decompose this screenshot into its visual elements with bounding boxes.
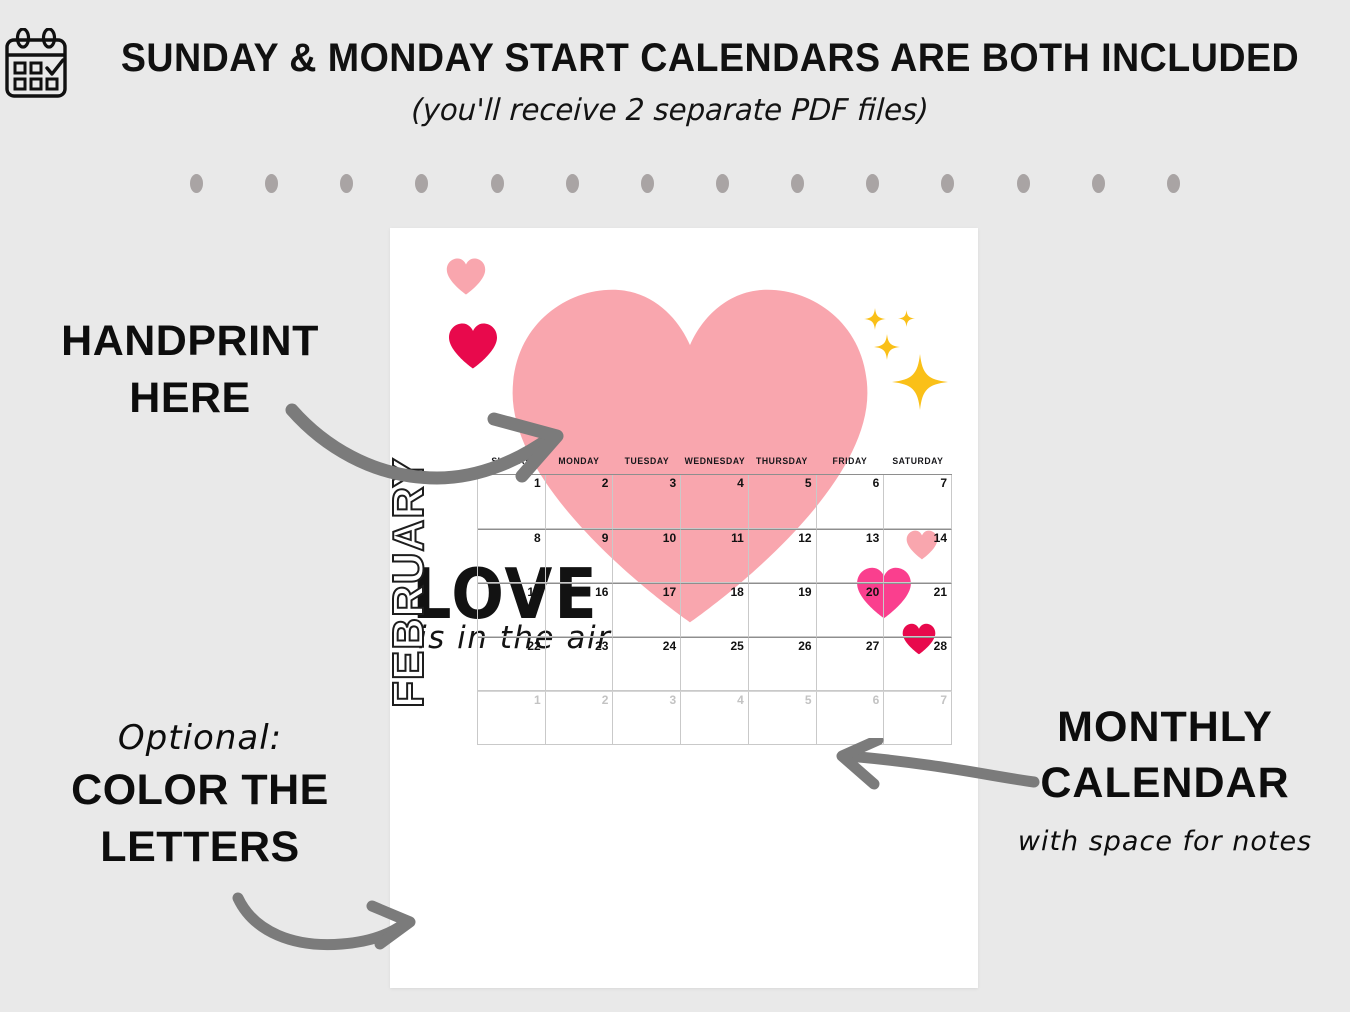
calendar-day-cell[interactable]: 3 xyxy=(613,475,681,529)
divider-dot xyxy=(941,174,954,193)
day-number: 18 xyxy=(730,585,743,599)
day-number: 17 xyxy=(663,585,676,599)
calendar-day-cell[interactable]: 18 xyxy=(681,583,749,637)
calendar-day-cell[interactable]: 25 xyxy=(681,637,749,691)
annotation-color-line1: COLOR THE xyxy=(30,762,370,819)
annotation-monthly-calendar: MONTHLY CALENDAR with space for notes xyxy=(1000,700,1330,857)
day-number: 23 xyxy=(595,639,608,653)
calendar-day-cell[interactable]: 28 xyxy=(884,637,952,691)
day-number: 7 xyxy=(940,693,947,707)
day-number: 5 xyxy=(805,693,812,707)
header-title: SUNDAY & MONDAY START CALENDARS ARE BOTH… xyxy=(118,36,1302,81)
calendar-grid: SUNDAY MONDAY TUESDAY WEDNESDAY THURSDAY… xyxy=(477,456,952,745)
calendar-day-cell[interactable]: 15 xyxy=(478,583,546,637)
calendar-day-cell[interactable]: 1 xyxy=(478,691,546,745)
calendar-check-icon xyxy=(5,28,67,100)
calendar-day-cell[interactable]: 4 xyxy=(681,691,749,745)
light-pink-heart-icon xyxy=(446,258,486,295)
calendar-day-cell[interactable]: 4 xyxy=(681,475,749,529)
day-number: 6 xyxy=(873,476,880,490)
divider-dot xyxy=(340,174,353,193)
day-number: 12 xyxy=(798,531,811,545)
day-number: 13 xyxy=(866,531,879,545)
calendar-preview-card: LOVE is in the air FEBRUARY SUNDAY MONDA… xyxy=(390,228,978,988)
calendar-day-cell[interactable]: 6 xyxy=(817,475,885,529)
day-number: 6 xyxy=(873,693,880,707)
annotation-optional-label: Optional: xyxy=(30,718,370,758)
annotation-color-line2: LETTERS xyxy=(30,819,370,876)
calendar-day-cell[interactable]: 26 xyxy=(749,637,817,691)
calendar-day-cell[interactable]: 7 xyxy=(884,475,952,529)
calendar-day-cell[interactable]: 22 xyxy=(478,637,546,691)
day-number: 2 xyxy=(602,693,609,707)
sparkle-icon xyxy=(864,308,886,330)
day-number: 4 xyxy=(737,693,744,707)
day-number: 9 xyxy=(602,531,609,545)
day-number: 5 xyxy=(805,476,812,490)
day-number: 14 xyxy=(934,531,947,545)
day-number: 21 xyxy=(934,585,947,599)
calendar-day-cell[interactable]: 17 xyxy=(613,583,681,637)
calendar-day-cell[interactable]: 7 xyxy=(884,691,952,745)
calendar-day-cell[interactable]: 10 xyxy=(613,529,681,583)
day-number: 20 xyxy=(866,585,879,599)
day-number: 4 xyxy=(737,476,744,490)
calendar-day-cell[interactable]: 6 xyxy=(817,691,885,745)
divider-dot xyxy=(791,174,804,193)
day-number: 19 xyxy=(798,585,811,599)
day-number: 28 xyxy=(934,639,947,653)
calendar-week-row: 8 9 10 11 12 13 14 xyxy=(478,529,952,583)
divider-dot xyxy=(566,174,579,193)
weekday-thursday: THURSDAY xyxy=(750,456,815,474)
calendar-week-row-next-month: 1 2 3 4 5 6 7 xyxy=(478,691,952,745)
divider-dot xyxy=(265,174,278,193)
calendar-day-cell[interactable]: 23 xyxy=(546,637,614,691)
day-number: 3 xyxy=(669,476,676,490)
calendar-day-cell[interactable]: 19 xyxy=(749,583,817,637)
calendar-day-cell[interactable]: 27 xyxy=(817,637,885,691)
header-band: SUNDAY & MONDAY START CALENDARS ARE BOTH… xyxy=(0,0,1350,150)
divider-dot xyxy=(1167,174,1180,193)
calendar-day-cell[interactable]: 20 xyxy=(817,583,885,637)
calendar-day-cell[interactable]: 5 xyxy=(749,691,817,745)
calendar-day-cell[interactable]: 13 xyxy=(817,529,885,583)
day-number: 16 xyxy=(595,585,608,599)
annotation-color-letters: Optional: COLOR THE LETTERS xyxy=(30,718,370,876)
sparkle-icon xyxy=(892,354,948,410)
calendar-day-cell[interactable]: 24 xyxy=(613,637,681,691)
calendar-day-cell[interactable]: 9 xyxy=(546,529,614,583)
calendar-day-cell[interactable]: 14 xyxy=(884,529,952,583)
divider-dot xyxy=(641,174,654,193)
weekday-tuesday: TUESDAY xyxy=(614,456,679,474)
annotation-monthly-line2: CALENDAR xyxy=(1000,756,1330,812)
calendar-day-cell[interactable]: 8 xyxy=(478,529,546,583)
color-letters-arrow-icon xyxy=(232,890,422,960)
day-number: 3 xyxy=(669,693,676,707)
weekday-friday: FRIDAY xyxy=(818,456,883,474)
calendar-day-cell[interactable]: 3 xyxy=(613,691,681,745)
divider-dot xyxy=(415,174,428,193)
divider-dot xyxy=(866,174,879,193)
day-number: 10 xyxy=(663,531,676,545)
crimson-heart-icon xyxy=(448,323,498,369)
divider-dot xyxy=(1092,174,1105,193)
day-number: 2 xyxy=(602,476,609,490)
annotation-monthly-sub: with space for notes xyxy=(1000,826,1330,857)
day-number: 26 xyxy=(798,639,811,653)
weekday-saturday: SATURDAY xyxy=(885,456,950,474)
annotation-handprint-line1: HANDPRINT xyxy=(61,317,319,365)
day-number: 22 xyxy=(527,639,540,653)
calendar-grid-body: 1 2 3 4 5 6 7 8 9 10 11 12 13 14 15 16 1… xyxy=(477,474,952,745)
calendar-day-cell[interactable]: 16 xyxy=(546,583,614,637)
calendar-week-row: 15 16 17 18 19 20 21 xyxy=(478,583,952,637)
divider-dot xyxy=(491,174,504,193)
header-subtitle: (you'll receive 2 separate PDF files) xyxy=(97,93,1243,128)
day-number: 25 xyxy=(730,639,743,653)
calendar-day-cell[interactable]: 21 xyxy=(884,583,952,637)
calendar-day-cell[interactable]: 5 xyxy=(749,475,817,529)
calendar-day-cell[interactable]: 2 xyxy=(546,691,614,745)
annotation-monthly-line1: MONTHLY xyxy=(1000,700,1330,756)
day-number: 7 xyxy=(940,476,947,490)
monthly-calendar-arrow-icon xyxy=(830,738,1040,800)
divider-dot xyxy=(716,174,729,193)
day-number: 15 xyxy=(527,585,540,599)
sparkle-icon xyxy=(898,310,915,327)
divider-dot xyxy=(1017,174,1030,193)
weekday-wednesday: WEDNESDAY xyxy=(682,456,747,474)
day-number: 27 xyxy=(866,639,879,653)
day-number: 8 xyxy=(534,531,541,545)
dot-divider xyxy=(190,172,1180,194)
calendar-day-cell[interactable]: 11 xyxy=(681,529,749,583)
day-number: 11 xyxy=(731,531,744,545)
calendar-week-row: 22 23 24 25 26 27 28 xyxy=(478,637,952,691)
calendar-day-cell[interactable]: 12 xyxy=(749,529,817,583)
annotation-handprint-line2: HERE xyxy=(129,374,250,422)
day-number: 1 xyxy=(534,693,541,707)
day-number: 24 xyxy=(663,639,676,653)
handprint-arrow-icon xyxy=(282,392,582,497)
divider-dot xyxy=(190,174,203,193)
